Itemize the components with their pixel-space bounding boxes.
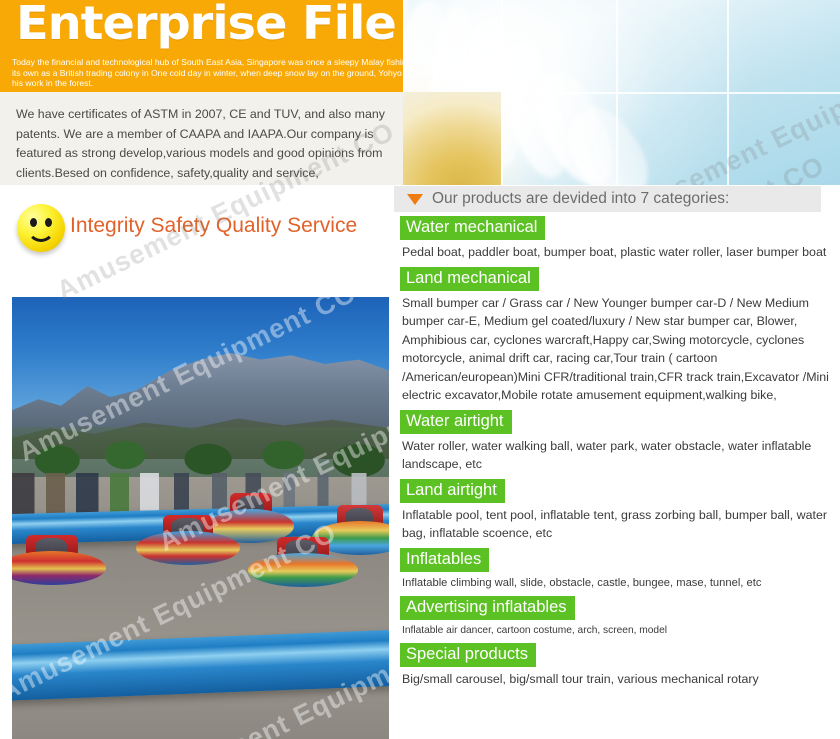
- bumper-boat: [248, 537, 358, 595]
- banner-subtitle: Today the financial and technological hu…: [12, 57, 512, 89]
- category-label[interactable]: Special products: [400, 643, 536, 667]
- bumper-boat: [136, 515, 240, 571]
- category-description: Inflatable air dancer, cartoon costume, …: [402, 623, 834, 638]
- bumper-boat: [12, 535, 106, 591]
- category-description: Big/small carousel, big/small tour train…: [402, 670, 834, 689]
- product-category: InflatablesInflatable climbing wall, sli…: [394, 544, 840, 591]
- products-heading-bar: Our products are devided into 7 categori…: [394, 186, 821, 212]
- certificates-box: We have certificates of ASTM in 2007, CE…: [0, 92, 403, 185]
- product-category: Water airtightWater roller, water walkin…: [394, 406, 840, 474]
- triangle-down-icon: [407, 194, 423, 205]
- page-title: Enterprise File: [16, 0, 396, 50]
- category-description: Water roller, water walking ball, water …: [402, 437, 834, 474]
- product-category: Land mechanicalSmall bumper car / Grass …: [394, 263, 840, 405]
- bumper-boat-photo: Amusement Equipment CO Amusement Equipme…: [12, 297, 389, 739]
- product-category: Special productsBig/small carousel, big/…: [394, 639, 840, 689]
- category-label[interactable]: Land airtight: [400, 479, 505, 503]
- product-category: Advertising inflatablesInflatable air da…: [394, 592, 840, 638]
- smiley-face-icon: [17, 204, 65, 252]
- category-description: Inflatable pool, tent pool, inflatable t…: [402, 506, 834, 543]
- product-categories-panel: Our products are devided into 7 categori…: [394, 185, 840, 739]
- category-description: Pedal boat, paddler boat, bumper boat, p…: [402, 243, 834, 262]
- category-label[interactable]: Land mechanical: [400, 267, 539, 291]
- category-label[interactable]: Water mechanical: [400, 216, 545, 240]
- products-heading-text: Our products are devided into 7 categori…: [432, 190, 729, 208]
- category-label[interactable]: Inflatables: [400, 548, 489, 572]
- product-category: Land airtightInflatable pool, tent pool,…: [394, 475, 840, 543]
- top-banner: Enterprise File Today the financial and …: [0, 0, 840, 185]
- category-description: Inflatable climbing wall, slide, obstacl…: [402, 575, 834, 591]
- certificates-text: We have certificates of ASTM in 2007, CE…: [16, 105, 394, 183]
- page-root: Enterprise File Today the financial and …: [0, 0, 840, 739]
- category-description: Small bumper car / Grass car / New Young…: [402, 294, 834, 405]
- category-label[interactable]: Advertising inflatables: [400, 596, 575, 620]
- slogan-text: Integrity Safety Quality Service: [70, 214, 357, 238]
- product-category: Water mechanicalPedal boat, paddler boat…: [394, 212, 840, 262]
- category-list: Water mechanicalPedal boat, paddler boat…: [394, 212, 840, 688]
- category-label[interactable]: Water airtight: [400, 410, 512, 434]
- slogan-strip: Integrity Safety Quality Service: [0, 185, 394, 270]
- daisy-closeup-tile: [403, 92, 501, 185]
